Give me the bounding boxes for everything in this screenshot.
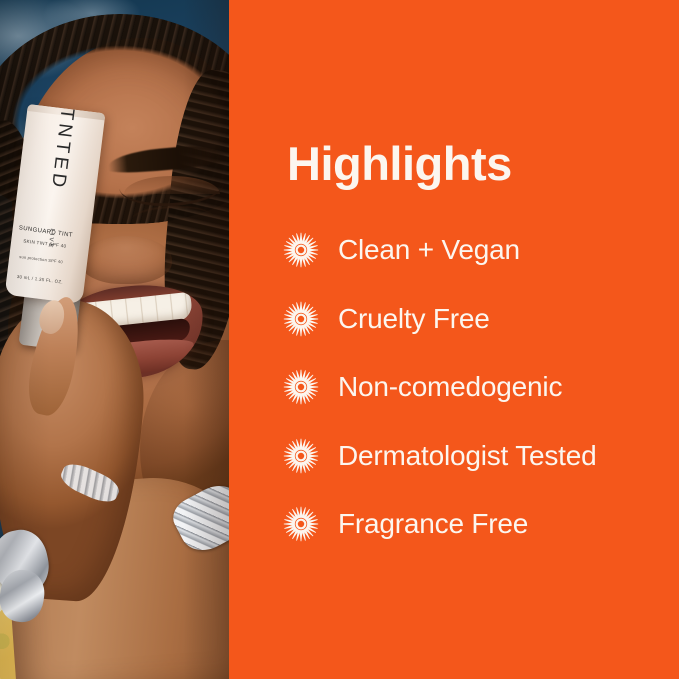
model-nose	[80, 236, 172, 284]
list-item: Fragrance Free	[283, 502, 673, 546]
product-volume-label: 30 mL / 1.35 FL. OZ.	[17, 274, 64, 285]
highlight-label: Non-comedogenic	[338, 371, 562, 403]
product-lifestyle-photo: TNTED LIVE SUNGUARD TINT SKIN TINT SPF 4…	[0, 0, 229, 679]
highlights-panel: Highlights Clean + Vegan Cruelty Free No…	[229, 0, 679, 679]
highlights-list: Clean + Vegan Cruelty Free Non-comedogen…	[283, 228, 673, 571]
list-item: Dermatologist Tested	[283, 434, 673, 478]
list-item: Clean + Vegan	[283, 228, 673, 272]
sunburst-icon	[283, 369, 319, 405]
highlight-label: Fragrance Free	[338, 508, 528, 540]
product-highlights-banner: TNTED LIVE SUNGUARD TINT SKIN TINT SPF 4…	[0, 0, 679, 679]
product-line-label: SUNGUARD TINT	[18, 225, 73, 239]
highlight-label: Clean + Vegan	[338, 234, 520, 266]
highlight-label: Cruelty Free	[338, 303, 490, 335]
product-brand-label: TNTED	[46, 107, 78, 192]
page-title: Highlights	[287, 140, 512, 187]
highlight-label: Dermatologist Tested	[338, 440, 597, 472]
list-item: Cruelty Free	[283, 297, 673, 341]
sunburst-icon	[283, 232, 319, 268]
sunburst-icon	[283, 301, 319, 337]
list-item: Non-comedogenic	[283, 365, 673, 409]
product-claim-label: sun protection SPF 40	[19, 254, 63, 265]
sunburst-icon	[283, 438, 319, 474]
product-spf-label: SKIN TINT SPF 40	[23, 238, 67, 248]
sunburst-icon	[283, 506, 319, 542]
